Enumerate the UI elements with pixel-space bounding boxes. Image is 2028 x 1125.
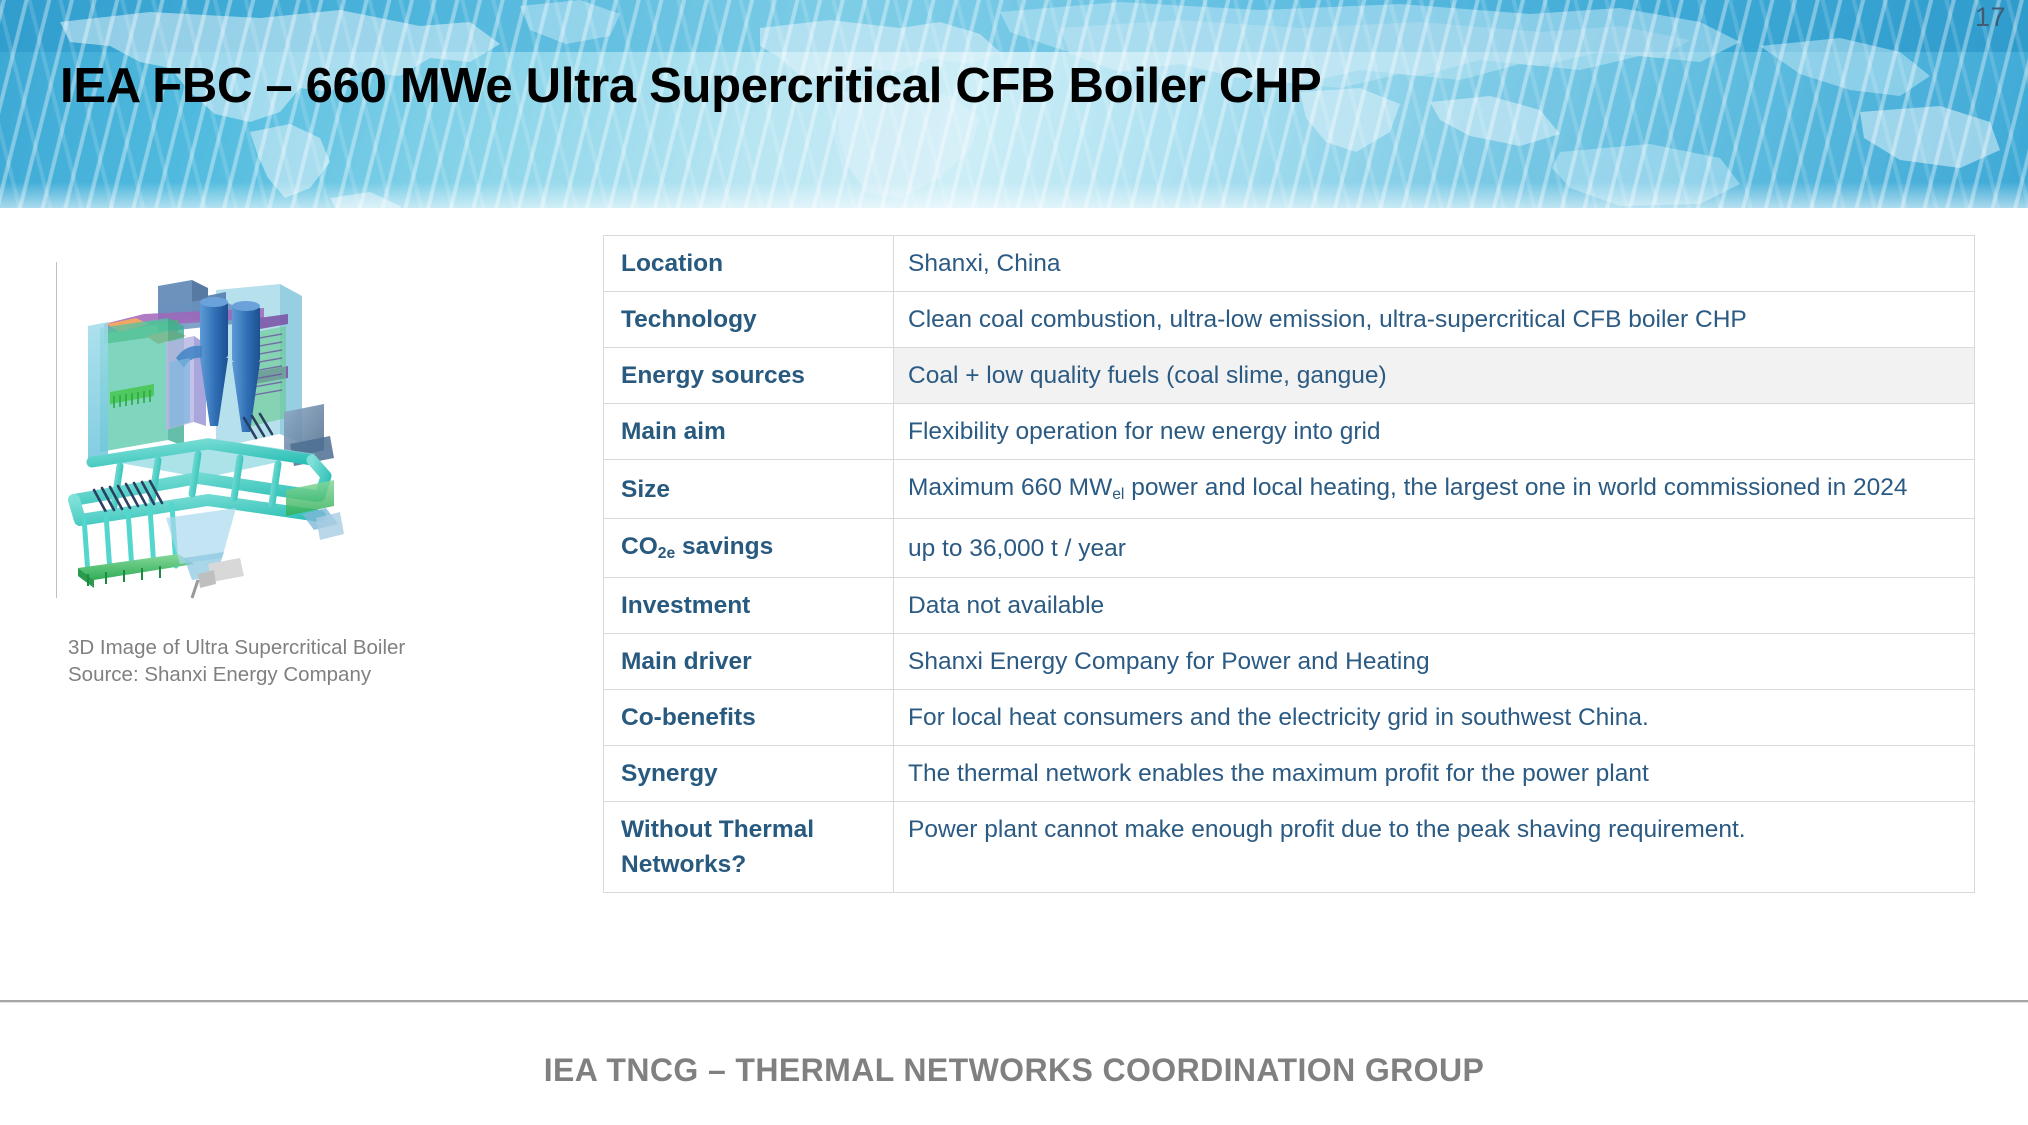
- row-value: Flexibility operation for new energy int…: [894, 404, 1975, 460]
- row-value-subscript: el: [1112, 486, 1124, 503]
- table-row: Co-benefits For local heat consumers and…: [604, 690, 1975, 746]
- boiler-figure: [56, 262, 356, 602]
- row-value: Power plant cannot make enough profit du…: [894, 802, 1975, 893]
- project-spec-table: Location Shanxi, China Technology Clean …: [603, 235, 1975, 893]
- table-row: Energy sources Coal + low quality fuels …: [604, 348, 1975, 404]
- row-label: Size: [604, 460, 894, 519]
- table-row: Synergy The thermal network enables the …: [604, 746, 1975, 802]
- row-label: Main aim: [604, 404, 894, 460]
- row-label: Synergy: [604, 746, 894, 802]
- row-label: Without Thermal Networks?: [604, 802, 894, 893]
- row-value: The thermal network enables the maximum …: [894, 746, 1975, 802]
- row-label-suffix: savings: [675, 533, 773, 560]
- row-label: Investment: [604, 578, 894, 634]
- row-label: Energy sources: [604, 348, 894, 404]
- row-value: Shanxi Energy Company for Power and Heat…: [894, 634, 1975, 690]
- footer-divider: [0, 1000, 2028, 1002]
- boiler-3d-render-icon: [58, 262, 354, 602]
- row-label: CO2e savings: [604, 519, 894, 578]
- row-value: up to 36,000 t / year: [894, 519, 1975, 578]
- table-row: Location Shanxi, China: [604, 236, 1975, 292]
- table-row: Technology Clean coal combustion, ultra-…: [604, 292, 1975, 348]
- figure-caption-line1: 3D Image of Ultra Supercritical Boiler: [68, 634, 498, 661]
- row-label-subscript: 2e: [658, 545, 675, 562]
- figure-caption: 3D Image of Ultra Supercritical Boiler S…: [68, 634, 498, 688]
- slide-number: 17: [1975, 2, 2006, 33]
- header-bottom-fade: [0, 182, 2028, 208]
- row-value: Clean coal combustion, ultra-low emissio…: [894, 292, 1975, 348]
- table-row: CO2e savings up to 36,000 t / year: [604, 519, 1975, 578]
- figure-caption-line2: Source: Shanxi Energy Company: [68, 661, 498, 688]
- row-value: Maximum 660 MWel power and local heating…: [894, 460, 1975, 519]
- table-row: Main driver Shanxi Energy Company for Po…: [604, 634, 1975, 690]
- row-value: For local heat consumers and the electri…: [894, 690, 1975, 746]
- footer-label: IEA TNCG – THERMAL NETWORKS COORDINATION…: [0, 1052, 2028, 1089]
- table-row: Investment Data not available: [604, 578, 1975, 634]
- row-value: Shanxi, China: [894, 236, 1975, 292]
- row-value: Data not available: [894, 578, 1975, 634]
- row-value: Coal + low quality fuels (coal slime, ga…: [894, 348, 1975, 404]
- figure-frame-line: [56, 262, 57, 598]
- page-title: IEA FBC – 660 MWe Ultra Supercritical CF…: [60, 58, 1321, 114]
- row-value-suffix: power and local heating, the largest one…: [1124, 474, 1907, 501]
- table-row: Size Maximum 660 MWel power and local he…: [604, 460, 1975, 519]
- table-row: Without Thermal Networks? Power plant ca…: [604, 802, 1975, 893]
- row-label: Location: [604, 236, 894, 292]
- table-row: Main aim Flexibility operation for new e…: [604, 404, 1975, 460]
- row-label: Technology: [604, 292, 894, 348]
- row-label: Main driver: [604, 634, 894, 690]
- row-value-prefix: Maximum 660 MW: [908, 474, 1112, 501]
- row-label-prefix: CO: [621, 533, 658, 560]
- slide-header-banner: 17 IEA FBC – 660 MWe Ultra Supercritical…: [0, 0, 2028, 208]
- row-label: Co-benefits: [604, 690, 894, 746]
